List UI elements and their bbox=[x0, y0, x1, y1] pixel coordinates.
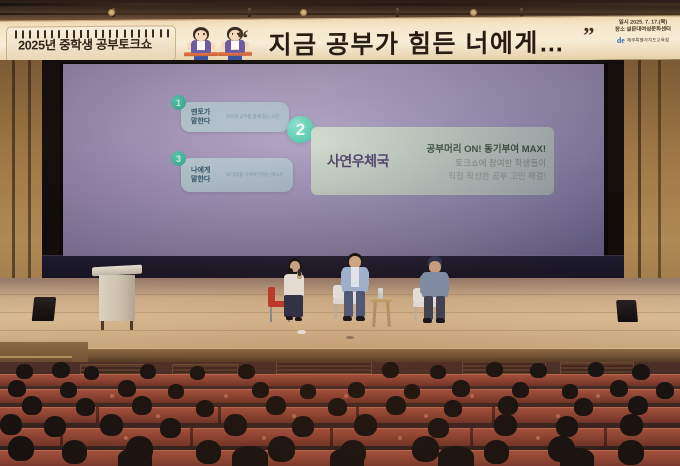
audience-area bbox=[0, 362, 680, 466]
slide-bubble-1: 1 멘토가 말한다 진로와 공부를 함께 찾는 시간 bbox=[181, 102, 289, 132]
logo-mark-icon: de bbox=[617, 35, 625, 45]
audience-head-foreground bbox=[438, 446, 474, 466]
slide-section-2-line2: 토크쇼에 참여한 학생들이 bbox=[405, 157, 546, 169]
audience-head bbox=[22, 396, 42, 415]
audience-head bbox=[8, 436, 34, 461]
audience-head bbox=[632, 364, 650, 380]
audience-head bbox=[512, 382, 529, 398]
audience-head bbox=[52, 362, 70, 378]
audience-head bbox=[386, 396, 406, 415]
person-guest-right bbox=[419, 256, 451, 332]
banner-event-info: 일시 2025. 7. 17.(목) 장소 설문대여성문화센터 de 제주특별자… bbox=[610, 19, 676, 60]
audience-head-foreground bbox=[560, 448, 594, 466]
audience-head bbox=[190, 366, 205, 380]
wooden-stool bbox=[371, 297, 392, 327]
audience-head bbox=[62, 440, 87, 464]
audience-head bbox=[620, 414, 643, 436]
banner-place: 장소 설문대여성문화센터 bbox=[610, 26, 676, 33]
audience-head bbox=[238, 364, 255, 379]
audience-head bbox=[494, 414, 517, 436]
stage-light-icon bbox=[470, 9, 477, 16]
water-bottle bbox=[378, 288, 383, 299]
slide-bubble-3-number: 3 bbox=[171, 151, 186, 166]
floor-item-paper bbox=[297, 330, 306, 334]
slide-section-2-label: 사연우체국 bbox=[311, 151, 405, 171]
audience-head bbox=[140, 364, 156, 379]
slide-section-2-card: 사연우체국 공부머리 ON! 동기부여 MAX! 토크쇼에 참여한 학생들이 직… bbox=[311, 127, 554, 195]
microphone-icon bbox=[298, 269, 301, 276]
audience-head bbox=[428, 418, 449, 438]
audience-head bbox=[382, 362, 399, 378]
audience-head bbox=[168, 384, 184, 399]
audience-head bbox=[404, 384, 420, 399]
organization-logo: de 제주특별자치도교육청 bbox=[610, 35, 676, 46]
audience-head bbox=[132, 396, 152, 415]
event-banner: 2025년 중학생 공부토크쇼 “ 지금 공부가 힘든 너에게… ” bbox=[0, 15, 680, 66]
audience-head bbox=[574, 398, 593, 416]
audience-head bbox=[354, 414, 377, 436]
projection-screen: 1 멘토가 말한다 진로와 공부를 함께 찾는 시간 3 나에게 말한다 내 마… bbox=[63, 64, 604, 256]
slide-section-2-line3: 직접 작성한 공부 고민 해결! bbox=[405, 170, 546, 182]
quote-close-icon: ” bbox=[583, 23, 595, 49]
audience-head bbox=[498, 396, 518, 415]
banner-left-title: 2025년 중학생 공부토크쇼 bbox=[0, 33, 170, 53]
audience-head bbox=[100, 414, 123, 436]
audience-head bbox=[44, 416, 66, 437]
truss-hook-icon bbox=[396, 8, 399, 17]
slide-bubble-3-title: 나에게 말한다 bbox=[191, 166, 221, 185]
audience-head bbox=[656, 382, 674, 399]
floor-item-shadow bbox=[346, 336, 354, 339]
stage-monitor-speaker-left bbox=[32, 297, 57, 321]
audience-head bbox=[196, 440, 221, 464]
person-host-with-microphone bbox=[278, 258, 312, 330]
audience-seat-row bbox=[0, 374, 680, 386]
audience-head bbox=[16, 364, 33, 379]
audience-head-foreground bbox=[330, 448, 364, 466]
audience-head bbox=[610, 380, 628, 397]
audience-head bbox=[444, 400, 462, 417]
audience-head bbox=[76, 398, 95, 416]
audience-head bbox=[486, 362, 503, 377]
audience-head bbox=[412, 436, 439, 462]
audience-head bbox=[300, 384, 316, 399]
audience-head bbox=[430, 365, 446, 379]
audience-head bbox=[84, 366, 99, 380]
audience-head bbox=[252, 382, 269, 398]
slide-bubble-1-body: 진로와 공부를 함께 찾는 시간 bbox=[226, 114, 279, 121]
audience-head bbox=[8, 380, 26, 397]
audience-head bbox=[452, 380, 470, 397]
podium bbox=[97, 266, 137, 328]
slide-bubble-1-title: 멘토가 말한다 bbox=[191, 108, 221, 127]
audience-head bbox=[0, 414, 22, 435]
audience-head bbox=[118, 380, 136, 397]
audience-head bbox=[292, 416, 314, 437]
lighting-truss-bar-secondary bbox=[0, 13, 680, 15]
stage-light-icon bbox=[108, 9, 115, 16]
person-guest-center bbox=[339, 253, 371, 331]
stage-monitor-speaker-right bbox=[616, 300, 638, 322]
audience-head bbox=[484, 440, 509, 464]
audience-head bbox=[196, 400, 214, 417]
banner-headline: 지금 공부가 힘든 너에게… bbox=[252, 22, 582, 63]
audience-head bbox=[266, 396, 286, 415]
audience-head-foreground bbox=[118, 448, 152, 466]
slide-section-2-number: 2 bbox=[287, 116, 314, 143]
audience-head bbox=[60, 382, 77, 398]
logo-org-name: 제주특별자치도교육청 bbox=[627, 37, 669, 43]
lighting-truss-bar bbox=[0, 3, 680, 6]
auditorium-photo: 2025년 중학생 공부토크쇼 “ 지금 공부가 힘든 너에게… ” bbox=[0, 0, 680, 466]
audience-head bbox=[268, 436, 295, 462]
slide-section-2-line1: 공부머리 ON! 동기부여 MAX! bbox=[405, 141, 546, 155]
slide-bubble-1-number: 1 bbox=[171, 95, 186, 110]
audience-head bbox=[530, 363, 547, 378]
audience-head-foreground bbox=[232, 446, 268, 466]
audience-head bbox=[328, 398, 347, 416]
wall-vent bbox=[276, 362, 372, 374]
audience-head bbox=[348, 382, 365, 398]
audience-head bbox=[628, 396, 648, 415]
slide-bubble-3: 3 나에게 말한다 내 마음을 나에게 전하는 메시지 bbox=[181, 158, 293, 192]
audience-head bbox=[562, 384, 578, 399]
truss-hook-icon bbox=[248, 8, 251, 17]
audience-head bbox=[618, 440, 644, 465]
audience-head bbox=[224, 414, 247, 436]
audience-head bbox=[588, 362, 604, 377]
quote-open-icon: “ bbox=[237, 26, 249, 52]
student-illustration-left-icon bbox=[184, 26, 218, 62]
stage-light-icon bbox=[300, 9, 307, 16]
slide-bubble-3-body: 내 마음을 나에게 전하는 메시지 bbox=[226, 172, 283, 179]
audience-head bbox=[160, 418, 181, 438]
audience-head bbox=[556, 416, 578, 437]
